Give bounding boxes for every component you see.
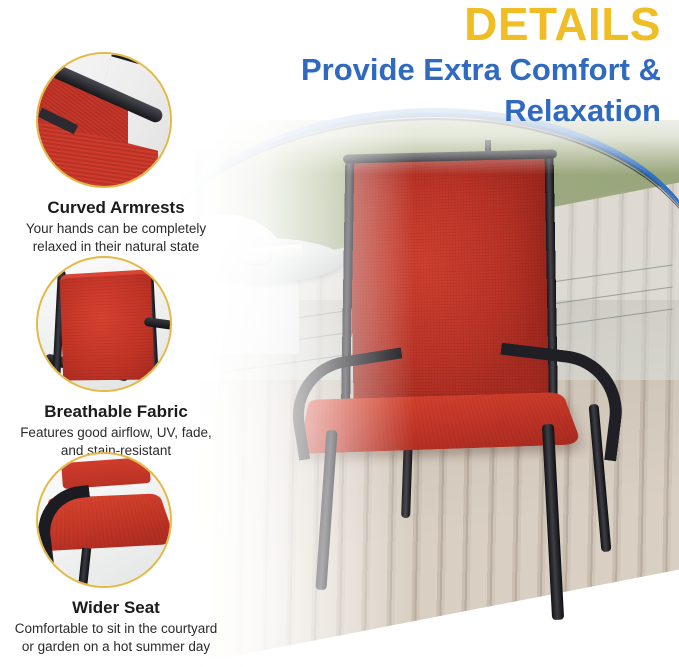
feature-image-wider-seat [36, 452, 172, 588]
feature-breathable-fabric: Breathable Fabric Features good airflow,… [0, 256, 232, 460]
feature-desc-breathable-fabric-line-1: Features good airflow, UV, fade, [0, 424, 232, 442]
page-subtitle-line-2: Relaxation [141, 91, 661, 130]
feature-desc-curved-armrests-line-1: Your hands can be completely [0, 220, 232, 238]
product-details-infographic: DETAILS Provide Extra Comfort & Relaxati… [0, 0, 679, 667]
page-subtitle-line-1: Provide Extra Comfort & [141, 50, 661, 89]
fabric-macro-mesh-panel [60, 269, 155, 380]
feature-image-breathable-fabric [36, 256, 172, 392]
chair-armrest-right [489, 343, 629, 462]
feature-desc-wider-seat-line-1: Comfortable to sit in the courtyard [0, 620, 232, 638]
feature-title-wider-seat: Wider Seat [0, 597, 232, 618]
page-title: DETAILS [141, 0, 661, 48]
feature-desc-curved-armrests-line-2: relaxed in their natural state [0, 238, 232, 256]
feature-title-breathable-fabric: Breathable Fabric [0, 401, 232, 422]
feature-title-curved-armrests: Curved Armrests [0, 197, 232, 218]
header-block: DETAILS Provide Extra Comfort & Relaxati… [141, 0, 661, 130]
feature-desc-wider-seat-line-2: or garden on a hot summer day [0, 638, 232, 656]
feature-wider-seat: Wider Seat Comfortable to sit in the cou… [0, 452, 232, 656]
